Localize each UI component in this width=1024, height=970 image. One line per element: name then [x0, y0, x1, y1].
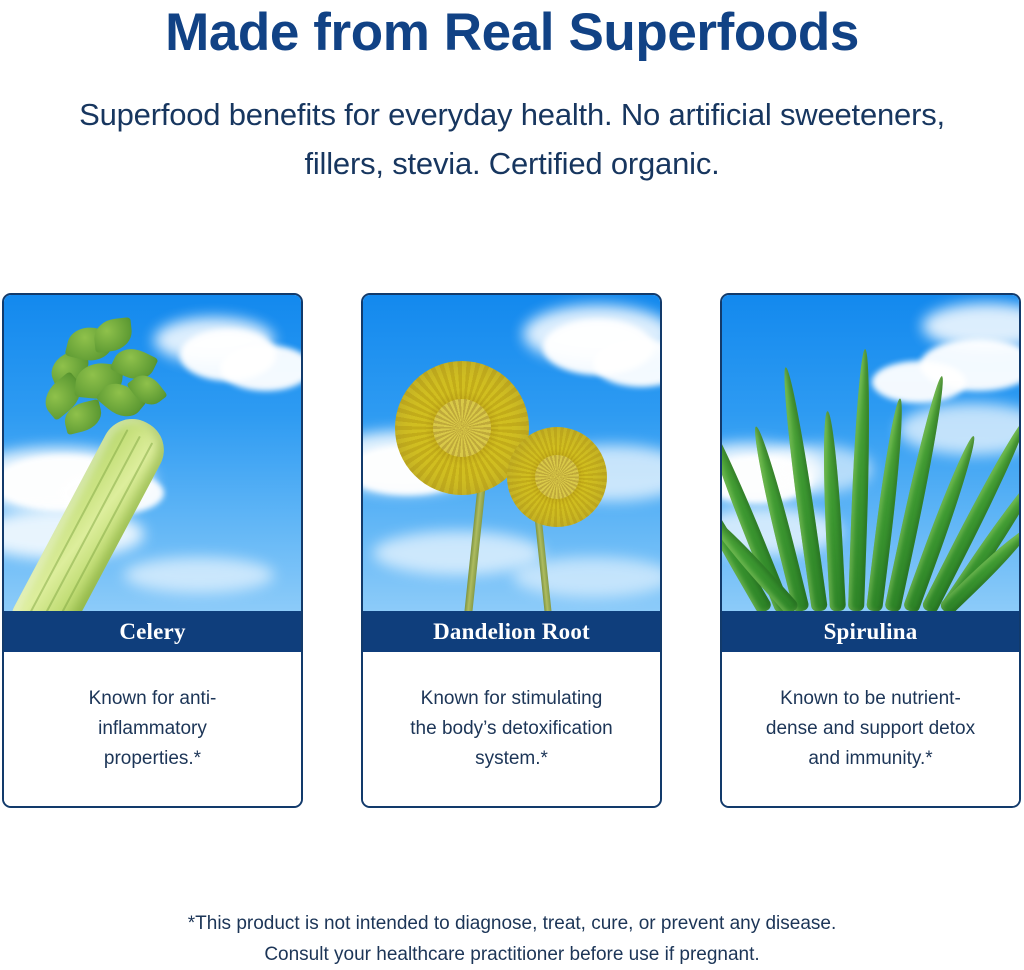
spirulina-image	[722, 295, 1019, 611]
disclaimer-line-1: *This product is not intended to diagnos…	[0, 908, 1024, 939]
spirulina-title-band: Spirulina	[722, 611, 1019, 652]
celery-leaves-shape	[40, 319, 190, 459]
dandelion-description: Known for stimulating the body’s detoxif…	[410, 684, 612, 774]
dandelion-body: Known for stimulating the body’s detoxif…	[363, 652, 660, 806]
celery-description: Known for anti- inflammatory properties.…	[89, 684, 217, 774]
page-subtitle: Superfood benefits for everyday health. …	[62, 90, 962, 188]
dandelion-flower-small	[507, 427, 607, 527]
dandelion-image	[363, 295, 660, 611]
superfood-card-dandelion-root[interactable]: Dandelion Root Known for stimulating the…	[361, 293, 662, 808]
superfood-card-spirulina[interactable]: Spirulina Known to be nutrient- dense an…	[720, 293, 1021, 808]
spirulina-description: Known to be nutrient- dense and support …	[766, 684, 975, 774]
celery-body: Known for anti- inflammatory properties.…	[4, 652, 301, 806]
header: Made from Real Superfoods Superfood bene…	[0, 0, 1024, 188]
celery-title: Celery	[119, 620, 185, 643]
dandelion-title-band: Dandelion Root	[363, 611, 660, 652]
disclaimer-line-2: Consult your healthcare practitioner bef…	[0, 939, 1024, 970]
disclaimer-footer: *This product is not intended to diagnos…	[0, 908, 1024, 970]
spirulina-body: Known to be nutrient- dense and support …	[722, 652, 1019, 806]
superfood-card-celery[interactable]: Celery Known for anti- inflammatory prop…	[2, 293, 303, 808]
dandelion-title: Dandelion Root	[433, 620, 590, 643]
celery-image	[4, 295, 301, 611]
spirulina-title: Spirulina	[824, 620, 918, 643]
page-title: Made from Real Superfoods	[0, 2, 1024, 64]
celery-title-band: Celery	[4, 611, 301, 652]
superfood-cards-row: Celery Known for anti- inflammatory prop…	[2, 293, 1022, 809]
